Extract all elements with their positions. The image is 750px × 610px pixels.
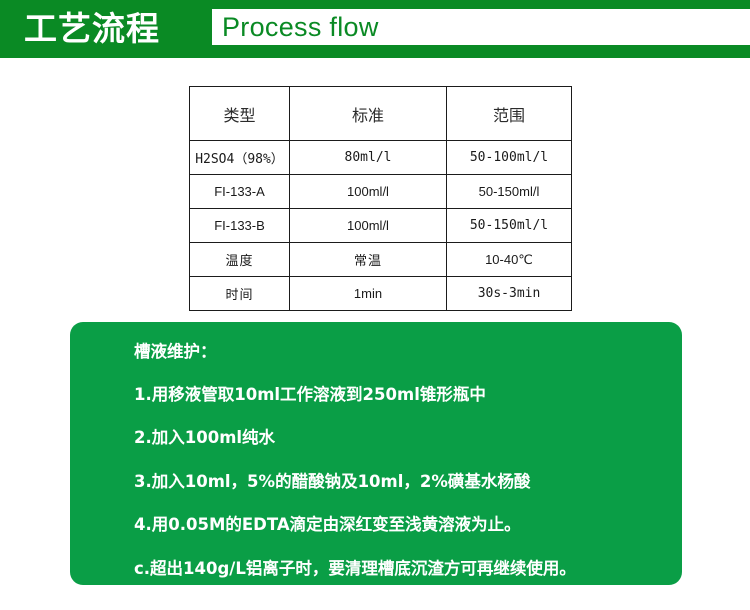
table-row: 时间 1min 30s-3min xyxy=(190,277,572,311)
cell-standard-3: 常温 xyxy=(290,243,447,277)
cell-range-2: 50-150ml/l xyxy=(447,209,572,243)
header-title-en: Process flow xyxy=(222,9,379,45)
table-row: 温度 常温 10-40℃ xyxy=(190,243,572,277)
column-header-type: 类型 xyxy=(190,87,290,141)
spec-table: 类型 标准 范围 H2SO4（98%） 80ml/l 50-100ml/l FI… xyxy=(189,86,572,311)
maintenance-step-4: 4.用0.05M的EDTA滴定由深红变至浅黄溶液为止。 xyxy=(134,517,652,534)
cell-standard-2: 100ml/l xyxy=(290,209,447,243)
cell-type-0: H2SO4（98%） xyxy=(190,141,290,175)
maintenance-title: 槽液维护： xyxy=(134,344,652,361)
cell-standard-0: 80ml/l xyxy=(290,141,447,175)
cell-range-3: 10-40℃ xyxy=(447,243,572,277)
page-header: 工艺流程 Process flow xyxy=(0,0,750,58)
cell-type-4: 时间 xyxy=(190,277,290,311)
maintenance-step-1: 1.用移液管取10ml工作溶液到250ml锥形瓶中 xyxy=(134,387,652,404)
table-row: FI-133-A 100ml/l 50-150ml/l xyxy=(190,175,572,209)
table-row: FI-133-B 100ml/l 50-150ml/l xyxy=(190,209,572,243)
table-row: H2SO4（98%） 80ml/l 50-100ml/l xyxy=(190,141,572,175)
maintenance-step-3: 3.加入10ml，5%的醋酸钠及10ml，2%磺基水杨酸 xyxy=(134,474,652,491)
cell-standard-4: 1min xyxy=(290,277,447,311)
cell-range-0: 50-100ml/l xyxy=(447,141,572,175)
cell-range-4: 30s-3min xyxy=(447,277,572,311)
maintenance-panel: 槽液维护： 1.用移液管取10ml工作溶液到250ml锥形瓶中 2.加入100m… xyxy=(70,322,682,585)
cell-type-3: 温度 xyxy=(190,243,290,277)
cell-type-2: FI-133-B xyxy=(190,209,290,243)
table-header-row: 类型 标准 范围 xyxy=(190,87,572,141)
header-title-cn: 工艺流程 xyxy=(24,6,160,52)
column-header-standard: 标准 xyxy=(290,87,447,141)
column-header-range: 范围 xyxy=(447,87,572,141)
cell-range-1: 50-150ml/l xyxy=(447,175,572,209)
spec-table-container: 类型 标准 范围 H2SO4（98%） 80ml/l 50-100ml/l FI… xyxy=(189,86,568,311)
maintenance-step-c: c.超出140g/L铝离子时，要清理槽底沉渣方可再继续使用。 xyxy=(134,561,652,578)
maintenance-step-2: 2.加入100ml纯水 xyxy=(134,430,652,447)
cell-type-1: FI-133-A xyxy=(190,175,290,209)
cell-standard-1: 100ml/l xyxy=(290,175,447,209)
